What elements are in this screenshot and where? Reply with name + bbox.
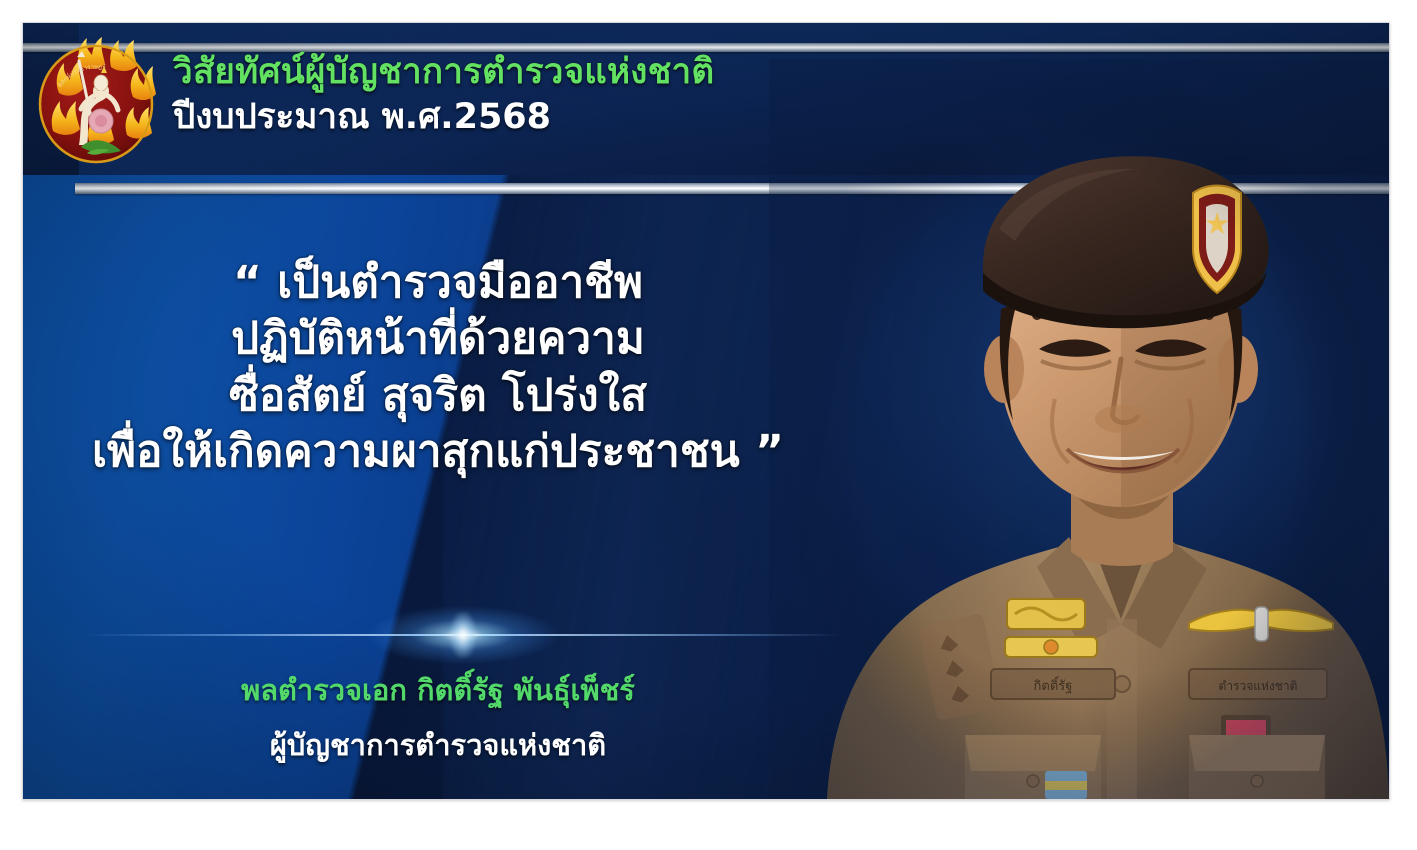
signature-block: พลตำรวจเอก กิตติ์รัฐ พันธุ์เพ็ชร์ ผู้บัญ… [23, 667, 853, 768]
vision-quote-line-2: ปฏิบัติหน้าที่ด้วยความ [23, 311, 853, 367]
vision-quote: “ เป็นตำรวจมืออาชีพ ปฏิบัติหน้าที่ด้วยคว… [23, 255, 853, 480]
vision-quote-line-1: “ เป็นตำรวจมืออาชีพ [23, 255, 853, 311]
poster-title-line-2: ปีงบประมาณ พ.ศ.2568 [173, 98, 714, 137]
divider-glow-core [450, 612, 476, 658]
vision-quote-line-3: ซื่อสัตย์ สุจริต โปร่งใส [23, 368, 853, 424]
light-flare-divider [83, 613, 843, 657]
header-top-chrome-bar [23, 43, 1389, 52]
commissioner-name: พลตำรวจเอก กิตติ์รัฐ พันธุ์เพ็ชร์ [23, 667, 853, 713]
vision-quote-line-4: เพื่อให้เกิดความผาสุกแก่ประชาชน ” [23, 424, 853, 480]
commissioner-role: ผู้บัญชาการตำรวจแห่งชาติ [23, 722, 853, 768]
vision-poster-card: กิตติ์รัฐ ตำรวจแห่งชาติ [22, 22, 1390, 800]
royal-thai-police-emblem-icon: พิทักษ์ประชาราษฎร์ [35, 35, 157, 167]
poster-title-line-1: วิสัยทัศน์ผู้บัญชาการตำรวจแห่งชาติ [173, 53, 714, 92]
commissioner-portrait: กิตติ์รัฐ ตำรวจแห่งชาติ [769, 59, 1389, 799]
screenshot-root: กิตติ์รัฐ ตำรวจแห่งชาติ [0, 0, 1417, 850]
poster-title: วิสัยทัศน์ผู้บัญชาการตำรวจแห่งชาติ ปีงบป… [173, 53, 714, 137]
